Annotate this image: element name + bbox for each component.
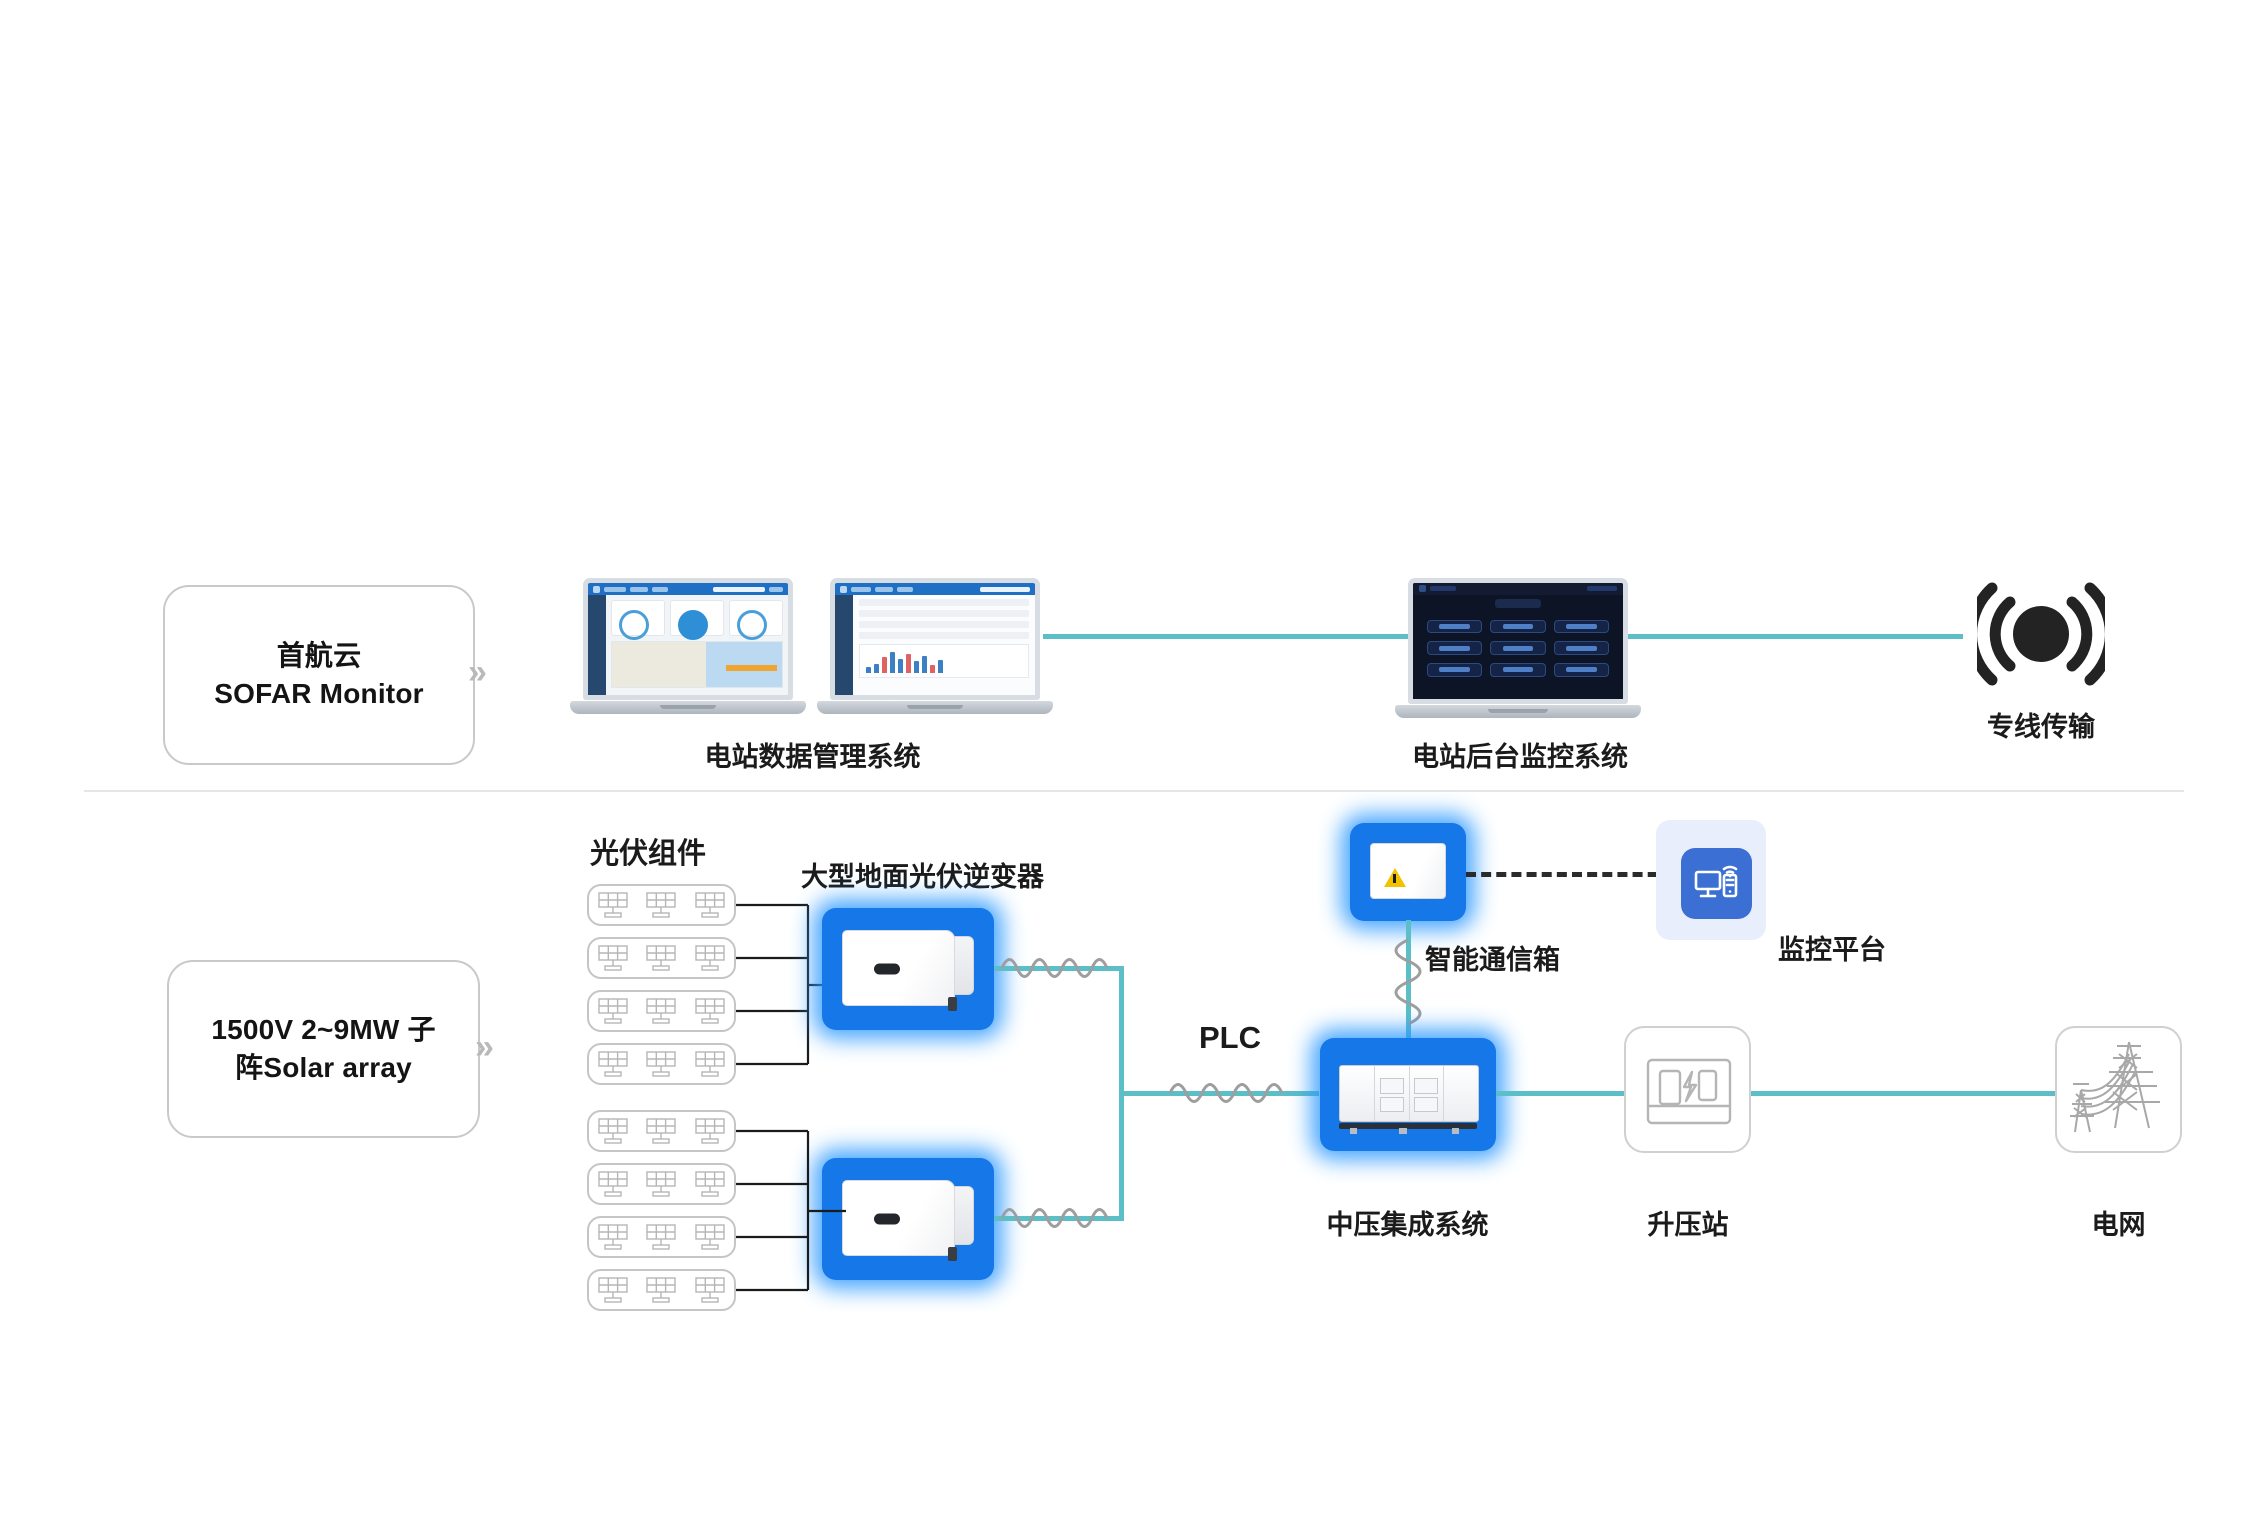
caption-data-management: 电站数据管理系统 <box>700 735 925 774</box>
backend-menu-cell[interactable] <box>1554 663 1609 677</box>
pv-group-row <box>587 1110 736 1152</box>
dashboard-titlebar <box>588 583 788 595</box>
solar-panel-icon <box>596 944 630 972</box>
inverter-connector <box>948 1247 957 1262</box>
solar-panel-icon <box>693 891 727 919</box>
laptop-notch <box>1488 709 1547 713</box>
signal-broadcast-icon <box>1977 580 2105 688</box>
backend-menu-grid <box>1413 608 1623 689</box>
chart-bar <box>866 667 871 673</box>
inverter-body <box>842 923 974 1015</box>
heading-inverter: 大型地面光伏逆变器 <box>790 855 1055 894</box>
laptop-screen-backend <box>1408 578 1628 704</box>
solar-panel-icon <box>644 1050 678 1078</box>
container-door <box>1375 1066 1410 1121</box>
pv-group-row <box>587 990 736 1032</box>
chart-bar <box>898 659 903 673</box>
gauge-ring <box>619 610 649 640</box>
solar-panel-icon <box>644 1223 678 1251</box>
backend-menu-cell[interactable] <box>1427 641 1482 655</box>
solar-panel-icon <box>693 1223 727 1251</box>
chart-bar <box>938 660 943 673</box>
solar-panel-icon <box>644 1276 678 1304</box>
connector-monitor-to-transmission <box>1628 634 1963 639</box>
kpi-card-row <box>611 600 783 636</box>
monitor-platform-icon[interactable] <box>1681 848 1752 919</box>
gauge-ring <box>737 610 767 640</box>
inverter-lower <box>822 1158 994 1280</box>
reports-sidebar <box>835 595 853 695</box>
laptop-base <box>570 701 805 714</box>
gauge-ring-filled <box>678 610 708 640</box>
container-vent <box>1414 1078 1438 1093</box>
app-logo-dot <box>1419 585 1426 592</box>
backend-menu-cell[interactable] <box>1427 663 1482 677</box>
pv-group-row <box>587 884 736 926</box>
app-logo-dot <box>593 586 600 593</box>
pv-bracket-lower <box>736 1126 846 1316</box>
sine-wave-inverter-upper <box>1000 948 1120 988</box>
power-grid <box>2055 1026 2182 1153</box>
table-row <box>859 610 1029 617</box>
kpi-card <box>729 600 783 636</box>
menu-item <box>851 587 871 592</box>
table-row <box>859 621 1029 628</box>
caption-mv-system: 中压集成系统 <box>1300 1203 1515 1242</box>
status-area <box>1587 586 1617 591</box>
laptop-base <box>1395 705 1641 718</box>
map-highlight-bar <box>726 665 777 671</box>
label-plc: PLC <box>1175 1020 1285 1056</box>
solar-panel-icon <box>596 997 630 1025</box>
solar-panel-icon <box>596 1223 630 1251</box>
mv-integrated-system <box>1320 1038 1496 1151</box>
backend-menu-cell[interactable] <box>1490 641 1545 655</box>
solar-panel-icon <box>644 997 678 1025</box>
solar-panel-icon <box>693 997 727 1025</box>
chart-bar <box>874 664 879 674</box>
solar-panel-icon <box>644 1170 678 1198</box>
solar-panel-icon <box>693 1117 727 1145</box>
container-vent <box>1380 1078 1404 1093</box>
kpi-card <box>611 600 665 636</box>
dashboard-main <box>606 595 788 695</box>
user-avatar <box>769 587 783 592</box>
top-label-line1: 首航云 <box>214 637 423 675</box>
laptop-data-management-2 <box>830 578 1040 714</box>
container-leg <box>1399 1128 1406 1134</box>
pv-group-row <box>587 1216 736 1258</box>
laptop-base <box>817 701 1052 714</box>
backend-titlebar <box>1413 583 1623 595</box>
solar-panel-icon <box>693 1276 727 1304</box>
warning-triangle-icon <box>1384 868 1406 887</box>
top-label-line2: SOFAR Monitor <box>214 675 423 713</box>
container-door <box>1410 1066 1445 1121</box>
top-label-chevron: » <box>468 655 487 689</box>
connector-mv-to-substation <box>1496 1091 1626 1096</box>
solar-panel-icon <box>693 1170 727 1198</box>
inverter-connector <box>948 997 957 1012</box>
container-vent <box>1414 1097 1438 1112</box>
bottom-label-chevron: » <box>475 1030 494 1064</box>
reports-main <box>853 595 1035 695</box>
chart-bar <box>930 665 935 673</box>
laptop-notch <box>907 705 963 709</box>
container-leg <box>1452 1128 1459 1134</box>
row-divider <box>84 790 2184 792</box>
container-skid-body <box>1335 1052 1481 1138</box>
menu-item <box>630 587 648 592</box>
bottom-label-line1: 1500V 2~9MW 子 <box>211 1011 435 1049</box>
reports-body <box>835 595 1035 695</box>
sine-wave-plc <box>1168 1073 1293 1113</box>
solar-panel-icon <box>644 891 678 919</box>
solar-panel-icon <box>596 891 630 919</box>
sine-wave-inverter-lower <box>1000 1198 1120 1238</box>
filter-row <box>859 599 1029 606</box>
container-leg <box>1350 1128 1357 1134</box>
dashboard-sidebar <box>588 595 606 695</box>
backend-menu-cell[interactable] <box>1427 620 1482 634</box>
dashboard-body <box>588 595 788 695</box>
bar-chart <box>859 644 1029 678</box>
search-field <box>713 587 765 592</box>
search-field <box>980 587 1030 592</box>
solar-panel-icon <box>693 944 727 972</box>
menu-item <box>897 587 913 592</box>
comm-box-body <box>1365 836 1451 908</box>
caption-backend-monitor: 电站后台监控系统 <box>1400 735 1640 774</box>
menu-item <box>1430 586 1456 591</box>
container-door <box>1444 1066 1478 1121</box>
caption-monitor-platform: 监控平台 <box>1778 928 1918 967</box>
caption-power-grid: 电网 <box>2055 1203 2182 1242</box>
heading-pv-modules: 光伏组件 <box>590 830 770 872</box>
menu-item <box>875 587 893 592</box>
comm-box-enclosure <box>1370 843 1446 899</box>
pv-group-row <box>587 937 736 979</box>
connector-comm-to-platform <box>1466 872 1688 877</box>
bottom-label-box: 1500V 2~9MW 子 阵Solar array <box>167 960 480 1138</box>
step-up-substation <box>1624 1026 1751 1153</box>
container-cabinets <box>1339 1065 1478 1122</box>
laptop-notch <box>660 705 716 709</box>
top-label-box: 首航云 SOFAR Monitor <box>163 585 475 765</box>
bottom-label-line2: 阵Solar array <box>211 1049 435 1087</box>
app-logo-dot <box>840 586 847 593</box>
backend-menu-cell[interactable] <box>1490 620 1545 634</box>
backend-menu-cell[interactable] <box>1554 641 1609 655</box>
container-door <box>1340 1066 1375 1121</box>
caption-dedicated-line: 专线传输 <box>1956 705 2126 744</box>
chart-bar <box>882 657 887 673</box>
solar-panel-icon <box>596 1170 630 1198</box>
table-row <box>859 632 1029 639</box>
laptop-screen-reports <box>830 578 1040 700</box>
laptop-screen-dashboard <box>583 578 793 700</box>
inverter-handle <box>874 1213 900 1224</box>
solar-panel-icon <box>596 1117 630 1145</box>
chart-bar <box>890 652 895 673</box>
smart-comm-box <box>1350 823 1466 921</box>
laptop-backend-monitor <box>1408 578 1628 718</box>
menu-item <box>604 587 626 592</box>
caption-substation: 升压站 <box>1622 1203 1754 1242</box>
chart-bar <box>922 656 927 673</box>
solar-panel-icon <box>596 1276 630 1304</box>
caption-smart-comm-box: 智能通信箱 <box>1425 938 1625 977</box>
pv-group-row <box>587 1043 736 1085</box>
coil-comm-to-mv <box>1386 938 1430 1038</box>
diagram-canvas: 首航云 SOFAR Monitor » <box>0 0 2265 1530</box>
map-panel <box>611 641 783 688</box>
inverter-upper <box>822 908 994 1030</box>
laptop-data-management-1 <box>583 578 793 714</box>
solar-panel-icon <box>693 1050 727 1078</box>
kpi-card <box>670 600 724 636</box>
solar-panel-icon <box>644 1117 678 1145</box>
connector-substation-to-grid <box>1751 1091 2067 1096</box>
backend-menu-cell[interactable] <box>1490 663 1545 677</box>
inverter-handle <box>874 963 900 974</box>
chart-bar <box>906 654 911 674</box>
pv-group-row <box>587 1269 736 1311</box>
reports-titlebar <box>835 583 1035 595</box>
chart-bar <box>914 661 919 673</box>
solar-panel-icon <box>644 944 678 972</box>
pv-group-row <box>587 1163 736 1205</box>
container-vent <box>1380 1097 1404 1112</box>
backend-page-title <box>1495 599 1541 608</box>
inverter-body <box>842 1173 974 1265</box>
connector-laptops-to-monitor <box>1043 634 1410 639</box>
menu-item <box>652 587 668 592</box>
solar-panel-icon <box>596 1050 630 1078</box>
backend-menu-cell[interactable] <box>1554 620 1609 634</box>
